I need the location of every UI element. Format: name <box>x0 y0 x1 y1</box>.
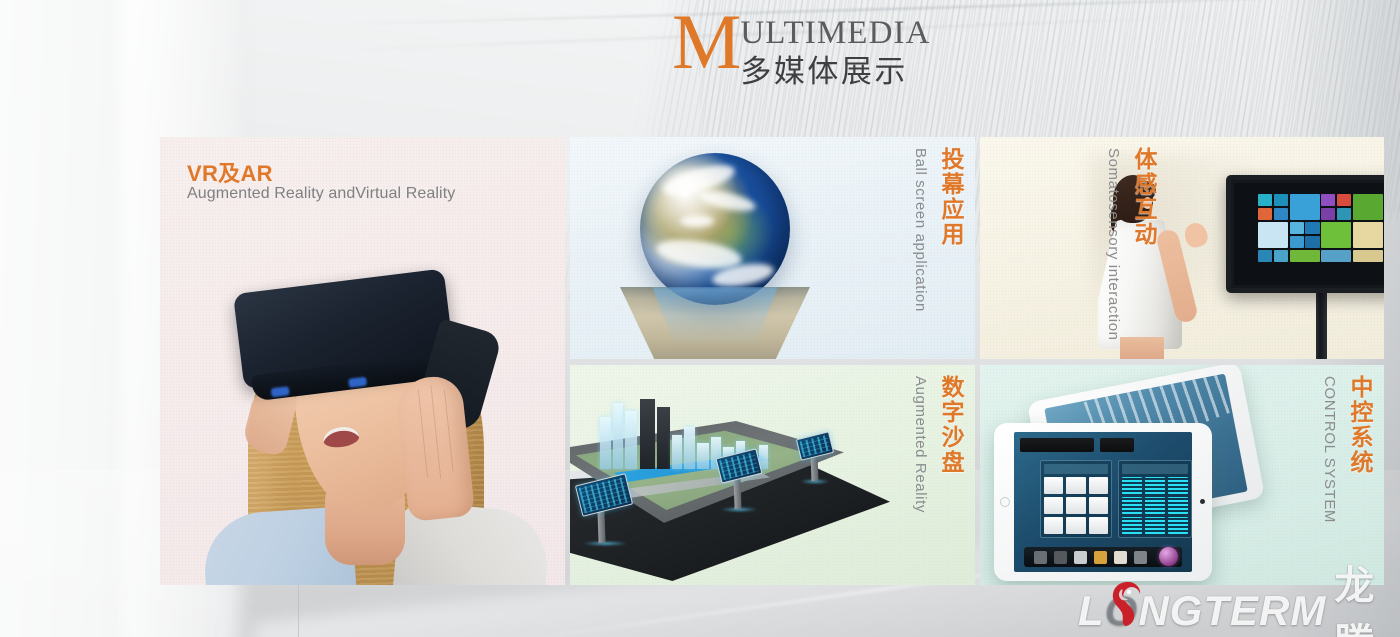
ball-screen-caption-cn: 投幕应用 <box>933 147 967 247</box>
sandbox-screen-post <box>811 455 819 481</box>
wall-display-screen <box>1226 175 1384 293</box>
status-cell[interactable] <box>1168 497 1188 514</box>
dock-icon[interactable] <box>1074 551 1087 564</box>
panel-header-bar <box>1122 464 1188 474</box>
status-cell[interactable] <box>1122 477 1142 494</box>
vr-headset-photo <box>190 239 542 585</box>
dock-icon[interactable] <box>1094 551 1107 564</box>
control-button[interactable] <box>1044 477 1063 494</box>
dock-orb-icon[interactable] <box>1159 547 1178 566</box>
tile <box>1321 222 1351 248</box>
title-text-group: ULTIMEDIA 多媒体展示 <box>740 10 930 89</box>
tablet-camera-dot <box>1200 499 1205 504</box>
tile <box>1353 222 1383 248</box>
tile <box>1337 194 1351 206</box>
tile <box>1290 250 1320 262</box>
tile <box>1274 208 1288 220</box>
tile <box>1353 250 1383 262</box>
building <box>672 435 682 469</box>
control-button[interactable] <box>1066 517 1085 534</box>
building <box>697 443 709 469</box>
globe-cloud <box>680 215 714 227</box>
vr-headset-device <box>233 268 455 389</box>
sandbox-caption-cn: 数字沙盘 <box>933 375 967 475</box>
dock-icon[interactable] <box>1114 551 1127 564</box>
status-cell[interactable] <box>1122 497 1142 514</box>
tile <box>1290 194 1320 220</box>
status-cell[interactable] <box>1168 517 1188 534</box>
status-cell[interactable] <box>1168 477 1188 494</box>
control-button[interactable] <box>1089 477 1108 494</box>
sandbox-screen-post <box>597 509 605 543</box>
status-cell[interactable] <box>1145 497 1165 514</box>
panel-header-bar <box>1044 464 1108 474</box>
building <box>657 407 670 469</box>
model-hand <box>1182 220 1210 250</box>
building <box>640 399 655 469</box>
control-button[interactable] <box>1066 477 1085 494</box>
toolbar-segment-left[interactable] <box>1020 438 1094 452</box>
page-title: M ULTIMEDIA 多媒体展示 <box>672 10 931 89</box>
tile <box>1274 250 1288 262</box>
dock-icon[interactable] <box>1134 551 1147 564</box>
building <box>613 403 623 469</box>
status-cell[interactable] <box>1122 517 1142 534</box>
vr-panel-subtitle: Augmented Reality andVirtual Reality <box>187 185 455 203</box>
building <box>600 417 611 469</box>
model-ear <box>1143 197 1152 209</box>
building <box>625 411 637 469</box>
tile <box>1321 250 1351 262</box>
control-system-caption-en: CONTROL SYSTEM <box>1321 376 1338 523</box>
dock-icon[interactable] <box>1034 551 1047 564</box>
tile <box>1290 222 1304 234</box>
ball-screen-caption-en: Ball screen application <box>912 148 929 312</box>
tile <box>1337 208 1351 220</box>
control-status-panel[interactable] <box>1118 460 1192 538</box>
toolbar-segment-right[interactable] <box>1100 438 1134 452</box>
display-stand-pole <box>1316 293 1327 359</box>
tablet-front[interactable] <box>994 423 1212 581</box>
panel-ball-screen[interactable]: 投幕应用 Ball screen application <box>570 137 975 359</box>
tile <box>1258 250 1272 262</box>
tile <box>1258 194 1272 206</box>
control-system-caption-cn: 中控系统 <box>1342 375 1376 475</box>
globe-cloud <box>697 187 757 215</box>
control-button-panel[interactable] <box>1040 460 1112 538</box>
building <box>684 427 695 469</box>
title-english: ULTIMEDIA <box>740 17 930 50</box>
tile <box>1321 194 1335 206</box>
tablet-home-button[interactable] <box>1000 497 1010 507</box>
tablet-front-screen <box>1014 432 1192 572</box>
title-drop-cap: M <box>672 10 739 74</box>
tile <box>1321 208 1335 220</box>
panel-somatosensory[interactable]: 体感互动 Somatosensory interaction <box>980 137 1384 359</box>
panel-vr-ar[interactable]: VR及AR Augmented Reality andVirtual Reali… <box>160 137 565 585</box>
model-legs <box>1120 337 1164 359</box>
tile <box>1258 222 1288 248</box>
panel-digital-sandbox[interactable]: 数字沙盘 Augmented Reality <box>570 365 975 585</box>
vr-panel-title: VR及AR <box>187 156 273 188</box>
control-button[interactable] <box>1089 497 1108 514</box>
control-button[interactable] <box>1044 497 1063 514</box>
control-button[interactable] <box>1089 517 1108 534</box>
tile <box>1274 194 1288 206</box>
control-button[interactable] <box>1066 497 1085 514</box>
tile <box>1305 236 1319 248</box>
status-cell[interactable] <box>1145 517 1165 534</box>
panel-control-system[interactable]: 会议控制系统 <box>980 365 1384 585</box>
tile <box>1353 194 1383 220</box>
tile <box>1258 208 1272 220</box>
status-cell[interactable] <box>1145 477 1165 494</box>
sandbox-screen-post <box>733 477 741 509</box>
title-chinese: 多媒体展示 <box>740 56 930 89</box>
tile <box>1290 236 1304 248</box>
windows-tile-grid <box>1234 183 1384 285</box>
globe-sphere <box>640 153 790 305</box>
tile <box>1305 222 1319 234</box>
sandbox-caption-en: Augmented Reality <box>912 376 929 513</box>
dock-icon[interactable] <box>1054 551 1067 564</box>
control-button[interactable] <box>1044 517 1063 534</box>
